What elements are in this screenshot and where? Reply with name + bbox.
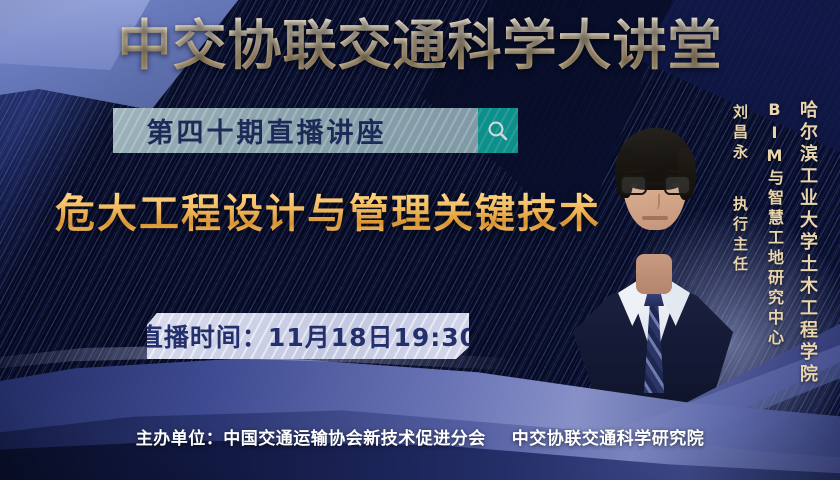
speaker-name: 刘昌永: [730, 104, 751, 164]
speaker-center: BIM与智慧工地研究中心: [762, 100, 786, 349]
broadcast-time-banner: 直播时间：11月18日19:30: [147, 313, 469, 359]
broadcast-time-text: 直播时间：11月18日19:30: [147, 318, 469, 354]
speaker-photo: [560, 86, 745, 406]
photo-mouth: [642, 216, 668, 220]
subtitle-bar-panel: 第四十期直播讲座: [113, 108, 478, 153]
search-icon: [486, 119, 510, 143]
speaker-organization: 哈尔滨工业大学土木工程学院: [794, 100, 820, 386]
page-title: 中交协联交通科学大讲堂: [0, 16, 840, 76]
organizer-one: 中国交通运输协会新技术促进分会: [223, 429, 486, 449]
organizer-two: 中交协联交通科学研究院: [512, 429, 705, 449]
photo-eyeglass-right: [664, 175, 691, 195]
search-button[interactable]: [478, 108, 518, 153]
photo-eyeglass-bridge: [647, 182, 664, 185]
organizer-footer: 主办单位：中国交通运输协会新技术促进分会中交协联交通科学研究院: [0, 424, 840, 449]
photo-neck: [636, 254, 672, 294]
photo-eyeglass-left: [620, 175, 647, 195]
organizer-prefix: 主办单位：: [136, 429, 224, 449]
lecture-title: 危大工程设计与管理关键技术: [55, 190, 601, 238]
photo-nose: [650, 194, 660, 210]
webinar-poster: 中交协联交通科学大讲堂 第四十期直播讲座 危大工程设计与管理关键技术 直播时间：…: [0, 0, 840, 480]
speaker-role: 执行主任: [730, 196, 751, 276]
subtitle-bar: 第四十期直播讲座: [113, 108, 518, 153]
subtitle-label: 第四十期直播讲座: [147, 111, 445, 150]
